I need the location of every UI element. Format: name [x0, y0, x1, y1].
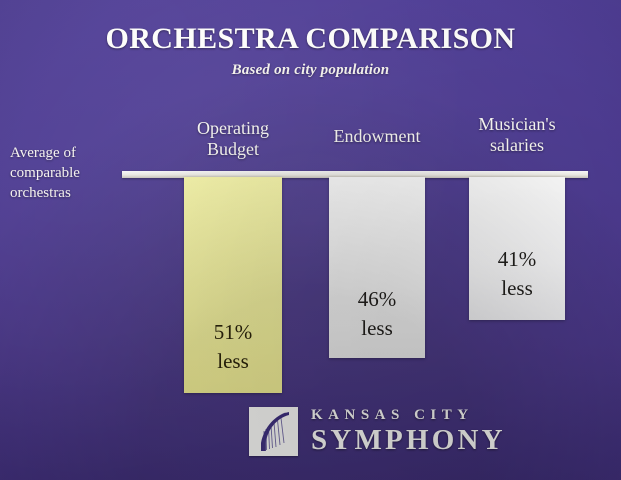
bar-value-label: 46% less: [329, 285, 425, 342]
axis-caption-line-3: orchestras: [10, 184, 122, 204]
axis-caption-line-1: Average of: [10, 144, 122, 164]
bar-value-suffix: less: [469, 274, 565, 302]
category-label-line-2: Budget: [166, 139, 300, 160]
plume-icon: [249, 407, 298, 456]
logo-line-kansas-city: KANSAS CITY: [311, 408, 506, 423]
bar-value-label: 41% less: [469, 245, 565, 302]
logo-line-symphony: SYMPHONY: [311, 426, 506, 455]
bar-musicians-salaries: 41% less: [469, 177, 565, 320]
category-label-line-1: Musician's: [452, 114, 582, 135]
category-label-line-2: salaries: [452, 135, 582, 156]
category-label-operating-budget: Operating Budget: [166, 118, 300, 160]
bar-operating-budget: 51% less: [184, 177, 282, 393]
bar-value-suffix: less: [184, 347, 282, 375]
logo-wordmark: KANSAS CITY SYMPHONY: [311, 408, 506, 455]
category-label-line-1: Operating: [166, 118, 300, 139]
page-title: ORCHESTRA COMPARISON: [0, 22, 621, 56]
slide-canvas: ORCHESTRA COMPARISON Based on city popul…: [0, 0, 621, 480]
bar-value-suffix: less: [329, 314, 425, 342]
bar-value-percent: 46%: [329, 285, 425, 313]
organization-logo: KANSAS CITY SYMPHONY: [249, 407, 506, 456]
bar-value-label: 51% less: [184, 318, 282, 375]
axis-caption: Average of comparable orchestras: [10, 144, 122, 203]
axis-caption-line-2: comparable: [10, 164, 122, 184]
bar-value-percent: 41%: [469, 245, 565, 273]
category-label-endowment: Endowment: [306, 126, 448, 147]
bar-value-percent: 51%: [184, 318, 282, 346]
bar-endowment: 46% less: [329, 177, 425, 358]
category-label-musicians-salaries: Musician's salaries: [452, 114, 582, 156]
page-subtitle: Based on city population: [0, 62, 621, 79]
category-label-line-1: Endowment: [306, 126, 448, 147]
